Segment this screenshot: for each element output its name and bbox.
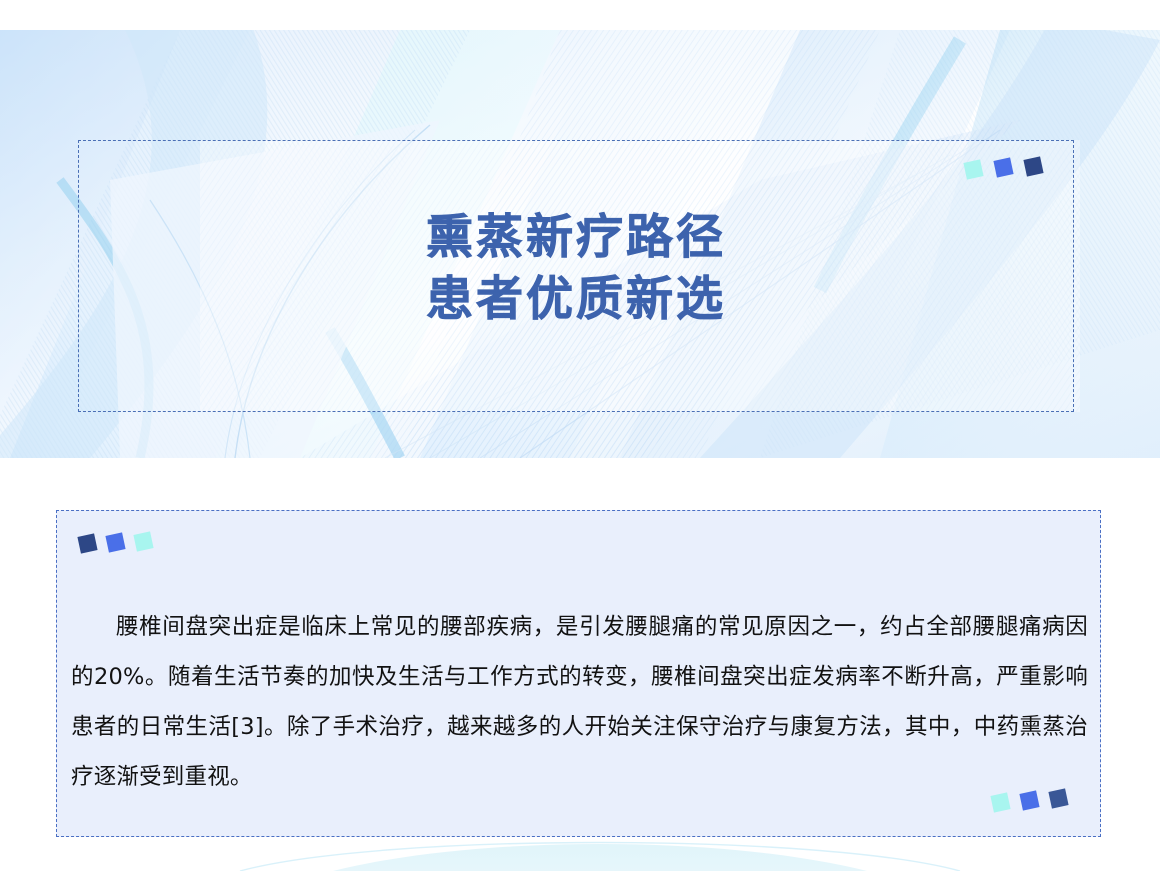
square-cyan-icon xyxy=(133,531,153,551)
hero-banner: 熏蒸新疗路径 患者优质新选 xyxy=(0,30,1160,458)
slide-page: 熏蒸新疗路径 患者优质新选 腰椎间盘突出症是临床上常见的腰部疾病，是引发腰腿痛的… xyxy=(0,0,1160,871)
square-blue-icon xyxy=(105,532,125,552)
page-title-line-2: 患者优质新选 xyxy=(79,269,1073,331)
footer-arc-shape xyxy=(0,831,1160,871)
footer-decorative-arc xyxy=(0,831,1160,871)
card-decor-squares-bottom-right xyxy=(992,790,1082,816)
page-title-line-1: 熏蒸新疗路径 xyxy=(79,207,1073,269)
square-blue-icon xyxy=(1019,790,1039,810)
square-navy-icon xyxy=(77,533,97,553)
square-cyan-icon xyxy=(963,159,983,179)
card-decor-squares-top-left xyxy=(79,533,169,559)
hero-dashed-frame: 熏蒸新疗路径 患者优质新选 xyxy=(78,140,1074,412)
square-navy-icon xyxy=(1048,788,1068,808)
body-paragraph: 腰椎间盘突出症是临床上常见的腰部疾病，是引发腰腿痛的常见原因之一，约占全部腰腿痛… xyxy=(71,602,1088,802)
hero-decor-squares xyxy=(965,157,1053,183)
square-navy-icon xyxy=(1023,156,1043,176)
page-title: 熏蒸新疗路径 患者优质新选 xyxy=(79,207,1073,331)
square-blue-icon xyxy=(993,157,1013,177)
square-cyan-icon xyxy=(990,792,1010,812)
body-content-card: 腰椎间盘突出症是临床上常见的腰部疾病，是引发腰腿痛的常见原因之一，约占全部腰腿痛… xyxy=(56,510,1101,837)
